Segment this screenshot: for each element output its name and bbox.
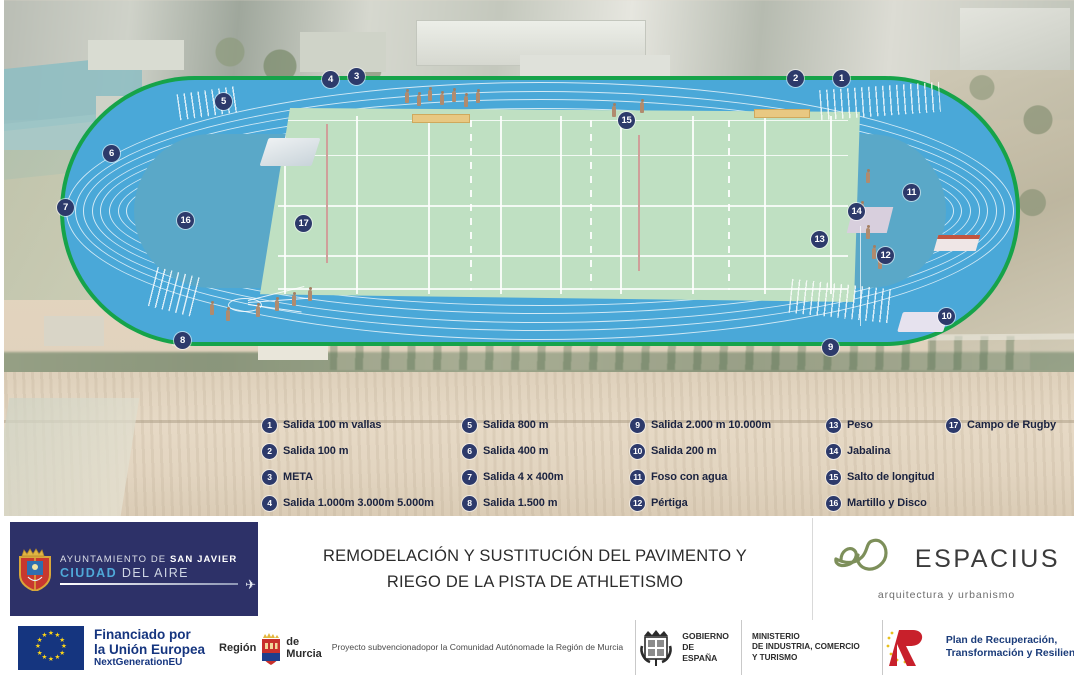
espacius-swirl-icon [833, 534, 907, 586]
gobierno-espana-block: GOBIERNO DE ESPAÑA [635, 620, 741, 675]
pitch-line-horizontal [278, 205, 848, 207]
legend-label-4: Salida 1.000m 3.000m 5.000m [283, 497, 434, 509]
long-jump-sandpit-west [412, 114, 470, 123]
legend-item-7[interactable]: 7Salida 4 x 400m [462, 464, 630, 490]
athlete-figure [872, 248, 876, 259]
espacius-tagline: arquitectura y urbanismo [878, 589, 1015, 601]
legend-badge-2: 2 [262, 444, 277, 459]
athlete-figure [464, 96, 468, 107]
legend-list: 1Salida 100 m vallas2Salida 100 m3META4S… [262, 412, 1062, 516]
goal-post [326, 124, 328, 264]
pitch-line-dashed [728, 120, 730, 291]
ayuntamiento-line-1: AYUNTAMIENTO DE SAN JAVIER [60, 554, 238, 565]
pitch-line-dashed [470, 120, 472, 291]
espacius-name: ESPACIUS [915, 545, 1060, 574]
athlete-figure [405, 92, 409, 103]
legend-badge-7: 7 [462, 470, 477, 485]
legend-label-6: Salida 400 m [483, 445, 548, 457]
legend-badge-16: 16 [826, 496, 841, 511]
map-marker-6[interactable]: 6 [103, 145, 120, 162]
map-marker-8[interactable]: 8 [174, 332, 191, 349]
legend-label-14: Jabalina [847, 445, 890, 457]
legend-badge-1: 1 [262, 418, 277, 433]
legend-badge-3: 3 [262, 470, 277, 485]
map-marker-9[interactable]: 9 [822, 339, 839, 356]
legend-label-5: Salida 800 m [483, 419, 548, 431]
legend-label-7: Salida 4 x 400m [483, 471, 563, 483]
slogan-del-aire: DEL AIRE [117, 566, 189, 580]
athlete-figure [210, 304, 214, 315]
map-marker-5[interactable]: 5 [215, 93, 232, 110]
athlete-figure [452, 91, 456, 102]
subvencion-text: Proyecto subvencionado por la Comunidad … [332, 620, 623, 675]
legend-item-15[interactable]: 15Salto de longitud [826, 464, 946, 490]
steeplechase-water-jump [934, 235, 981, 251]
eu-line-1: Financiado por [94, 627, 205, 642]
athlete-figure [640, 102, 644, 113]
prtr-line-2: Transformación y Resiliencia [946, 648, 1080, 661]
eu-star: ★ [48, 631, 54, 638]
legend-label-8: Salida 1.500 m [483, 497, 557, 509]
legend-badge-14: 14 [826, 444, 841, 459]
eu-funding-block: ★★★★★★★★★★★★ Financiado por la Unión Eur… [0, 620, 205, 675]
pitch-line-horizontal [278, 155, 848, 157]
map-marker-2[interactable]: 2 [787, 70, 804, 87]
pitch-line-horizontal [278, 255, 848, 257]
murcia-prefix: Región [219, 642, 256, 654]
ayuntamiento-prefix: AYUNTAMIENTO DE [60, 554, 170, 565]
project-title-line-1: REMODELACIÓN Y SUSTITUCIÓN DEL PAVIMENTO… [323, 545, 747, 567]
legend-badge-11: 11 [630, 470, 645, 485]
legend-badge-13: 13 [826, 418, 841, 433]
map-marker-17[interactable]: 17 [295, 215, 312, 232]
athlete-figure [226, 310, 230, 321]
legend-item-10[interactable]: 10Salida 200 m [630, 438, 826, 464]
eu-line-3: NextGenerationEU [94, 657, 205, 668]
eu-flag-icon: ★★★★★★★★★★★★ [18, 626, 84, 670]
athlete-figure [612, 106, 616, 117]
athlete-figure [440, 94, 444, 105]
prtr-line-1: Plan de Recuperación, [946, 635, 1080, 648]
legend-item-8[interactable]: 8Salida 1.500 m [462, 490, 630, 516]
ayuntamiento-wordmark: AYUNTAMIENTO DE SAN JAVIER CIUDAD DEL AI… [60, 554, 238, 585]
goal-post [638, 135, 640, 271]
prtr-block: Plan de Recuperación, Transformación y R… [882, 620, 1080, 675]
pitch-markings [260, 108, 860, 302]
ayuntamiento-city: SAN JAVIER [170, 554, 237, 565]
legend-badge-4: 4 [262, 496, 277, 511]
pitch-line-horizontal [278, 120, 848, 122]
legend-badge-8: 8 [462, 496, 477, 511]
legend-label-9: Salida 2.000 m 10.000m [651, 419, 771, 431]
map-marker-14[interactable]: 14 [848, 203, 865, 220]
athletics-track [60, 76, 1020, 346]
high-jump-area [259, 138, 320, 166]
legend-badge-17: 17 [946, 418, 961, 433]
subvencion-line-3: de la Región de Murcia [535, 642, 623, 654]
page-frame-right [1074, 0, 1080, 675]
ministerio-line-3: Y TURISMO [752, 653, 860, 664]
athlete-figure [256, 306, 260, 317]
legend-item-12[interactable]: 12Pértiga [630, 490, 826, 516]
eu-star: ★ [48, 657, 54, 664]
page-frame-left [0, 0, 4, 675]
legend-label-10: Salida 200 m [651, 445, 716, 457]
project-title: REMODELACIÓN Y SUSTITUCIÓN DEL PAVIMENTO… [258, 518, 812, 620]
legend-badge-9: 9 [630, 418, 645, 433]
coat-of-arms-icon [18, 547, 52, 591]
legend-label-11: Foso con agua [651, 471, 727, 483]
ministerio-line-2: DE INDUSTRIA, COMERCIO [752, 642, 860, 653]
subvencion-line-1: Proyecto subvencionado [332, 642, 426, 654]
photo-building-small [300, 32, 386, 72]
eu-star: ★ [35, 644, 41, 651]
region-murcia-block: Región de Murcia [219, 620, 322, 675]
athlete-figure [275, 300, 279, 311]
legend-item-14[interactable]: 14Jabalina [826, 438, 946, 464]
legend-item-6[interactable]: 6Salida 400 m [462, 438, 630, 464]
eu-line-2: la Unión Europea [94, 642, 205, 657]
legend-label-1: Salida 100 m vallas [283, 419, 381, 431]
map-marker-13[interactable]: 13 [811, 231, 828, 248]
map-marker-4[interactable]: 4 [322, 71, 339, 88]
ayuntamiento-line-2: CIUDAD DEL AIRE [60, 566, 238, 580]
legend-item-1[interactable]: 1Salida 100 m vallas [262, 412, 462, 438]
pitch-line-dashed [590, 120, 592, 291]
eu-stars: ★★★★★★★★★★★★ [18, 626, 84, 670]
legend-item-5[interactable]: 5Salida 800 m [462, 412, 630, 438]
airplane-icon: ✈ [245, 577, 256, 593]
project-title-line-2: RIEGO DE LA PISTA DE ATHLETISMO [387, 571, 683, 593]
legend-item-2[interactable]: 2Salida 100 m [262, 438, 462, 464]
athlete-figure [292, 295, 296, 306]
prtr-logo-icon [883, 626, 939, 670]
map-marker-11[interactable]: 11 [903, 184, 920, 201]
athlete-figure [866, 228, 870, 239]
murcia-crest-icon [260, 631, 282, 665]
slogan-ciudad: CIUDAD [60, 566, 117, 580]
photo-pale-parcel [0, 398, 139, 516]
legend-label-2: Salida 100 m [283, 445, 348, 457]
athlete-figure [417, 95, 421, 106]
athlete-figure [428, 90, 432, 101]
legend-item-13[interactable]: 13Peso [826, 412, 946, 438]
legend-item-17[interactable]: 17Campo de Rugby [946, 412, 1080, 438]
map-marker-7[interactable]: 7 [57, 199, 74, 216]
map-marker-16[interactable]: 16 [177, 212, 194, 229]
legend-badge-10: 10 [630, 444, 645, 459]
athlete-figure [866, 172, 870, 183]
map-marker-12[interactable]: 12 [877, 247, 894, 264]
legend-label-17: Campo de Rugby [967, 419, 1056, 431]
legend-label-16: Martillo y Disco [847, 497, 927, 509]
spain-coat-of-arms-icon [636, 628, 676, 668]
funding-bar: ★★★★★★★★★★★★ Financiado por la Unión Eur… [0, 620, 1080, 675]
legend-badge-15: 15 [826, 470, 841, 485]
legend-label-3: META [283, 471, 313, 483]
pitch-line-horizontal [278, 288, 848, 290]
subvencion-line-2: por la Comunidad Autónoma [426, 642, 535, 654]
athlete-figure [308, 290, 312, 301]
eu-star: ★ [37, 651, 43, 658]
legend-item-11[interactable]: 11Foso con agua [630, 464, 826, 490]
title-bar: AYUNTAMIENTO DE SAN JAVIER CIUDAD DEL AI… [0, 518, 1080, 620]
legend-label-15: Salto de longitud [847, 471, 935, 483]
map-marker-1[interactable]: 1 [833, 70, 850, 87]
prtr-wordmark: Plan de Recuperación, Transformación y R… [946, 635, 1080, 660]
map-marker-10[interactable]: 10 [938, 308, 955, 325]
rugby-pitch [260, 108, 860, 302]
ministerio-line-1: MINISTERIO [752, 632, 860, 643]
eu-funding-text: Financiado por la Unión Europea NextGene… [94, 627, 205, 668]
long-jump-sandpit-east [754, 109, 810, 118]
legend-item-4[interactable]: 4Salida 1.000m 3.000m 5.000m [262, 490, 462, 516]
gobierno-line-1: GOBIERNO [682, 631, 729, 642]
gobierno-line-2: DE ESPAÑA [682, 642, 729, 663]
map-marker-3[interactable]: 3 [348, 68, 365, 85]
ministerio-block: MINISTERIO DE INDUSTRIA, COMERCIO Y TURI… [741, 620, 870, 675]
legend-label-12: Pértiga [651, 497, 688, 509]
murcia-suffix: de Murcia [286, 636, 321, 660]
athlete-figure [476, 92, 480, 103]
eu-star: ★ [55, 655, 61, 662]
map-marker-15[interactable]: 15 [618, 112, 635, 129]
legend-badge-12: 12 [630, 496, 645, 511]
legend-item-3[interactable]: 3META [262, 464, 462, 490]
photo-court-3 [88, 40, 184, 70]
legend-badge-6: 6 [462, 444, 477, 459]
legend-badge-5: 5 [462, 418, 477, 433]
gobierno-wordmark: GOBIERNO DE ESPAÑA [682, 631, 729, 663]
legend-label-13: Peso [847, 419, 873, 431]
ministerio-wordmark: MINISTERIO DE INDUSTRIA, COMERCIO Y TURI… [752, 632, 870, 664]
eu-star: ★ [42, 633, 48, 640]
legend-item-16[interactable]: 16Martillo y Disco [826, 490, 946, 516]
logo-ayuntamiento-san-javier[interactable]: AYUNTAMIENTO DE SAN JAVIER CIUDAD DEL AI… [10, 522, 258, 616]
wordmark-rule: ✈ [60, 583, 238, 585]
aerial-plan-image: 1234567891011121314151617 1Salida 100 m … [0, 0, 1080, 516]
logo-espacius[interactable]: ESPACIUS arquitectura y urbanismo [812, 518, 1080, 620]
espacius-row: ESPACIUS [833, 534, 1060, 586]
legend-item-9[interactable]: 9Salida 2.000 m 10.000m [630, 412, 826, 438]
poster-root: 1234567891011121314151617 1Salida 100 m … [0, 0, 1080, 675]
